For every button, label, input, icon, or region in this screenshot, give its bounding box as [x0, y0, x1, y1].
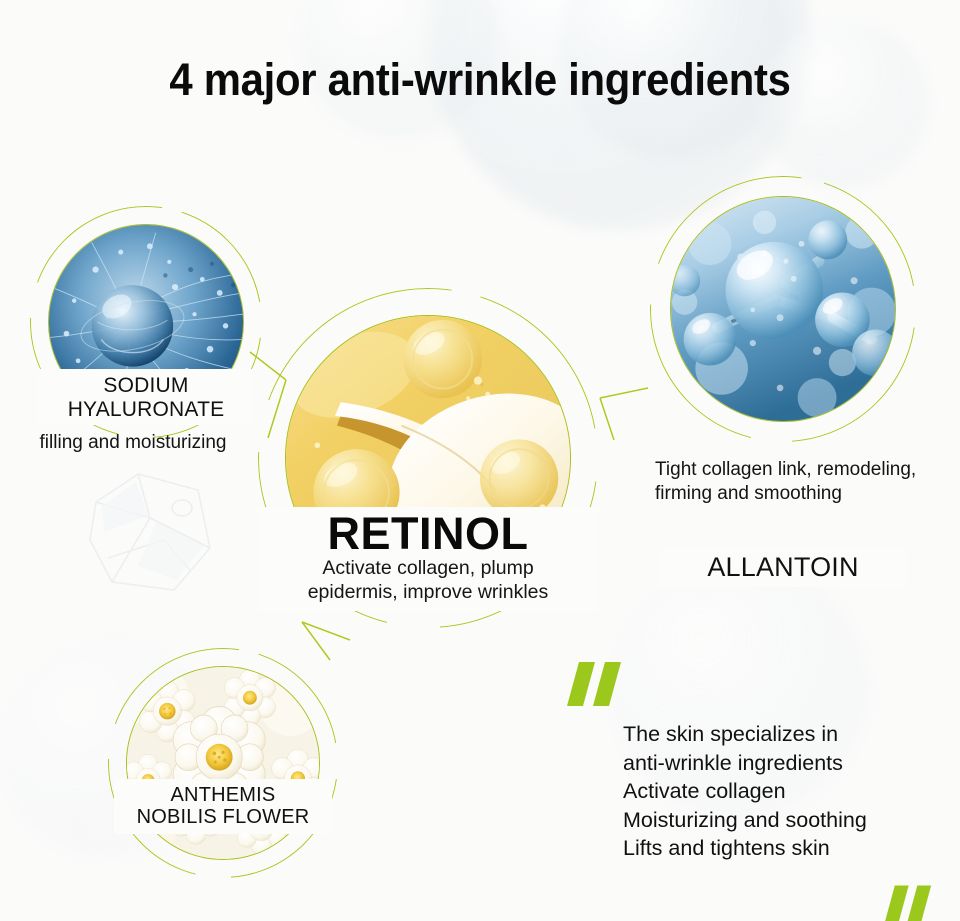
anthemis-nobilis-flower-title: ANTHEMIS NOBILIS FLOWER	[114, 784, 332, 829]
ingredient-node-sodium-hyaluronate[interactable]: SODIUM HYALURONATE	[30, 206, 262, 438]
allantoin-label-band: ALLANTOIN	[660, 548, 906, 587]
retinol-description: Activate collagen, plump epidermis, impr…	[258, 557, 598, 605]
connector-retinol-allantoin	[600, 388, 648, 398]
allantoin-title: ALLANTOIN	[660, 552, 906, 582]
ingredient-node-retinol[interactable]: RETINOL Activate collagen, plump epiderm…	[258, 288, 598, 628]
sodium-hyaluronate-description: filling and moisturizing	[8, 432, 258, 454]
sodium-hyaluronate-label-band: SODIUM HYALURONATE	[38, 369, 254, 425]
retinol-title: RETINOL	[258, 511, 598, 556]
allantoin-image	[670, 196, 896, 422]
quote-text: The skin specializes in anti-wrinkle ing…	[623, 720, 955, 863]
ice-cube-icon	[78, 462, 228, 617]
anthemis-nobilis-flower-label-band: ANTHEMIS NOBILIS FLOWER	[114, 779, 332, 834]
allantoin-description: Tight collagen link, remodeling, firming…	[655, 458, 960, 507]
ingredient-node-allantoin[interactable]: ALLANTOIN	[650, 176, 916, 442]
quote-open-icon	[565, 658, 629, 710]
quote-block: The skin specializes in anti-wrinkle ing…	[565, 658, 955, 863]
retinol-label-band: RETINOL Activate collagen, plump epiderm…	[258, 507, 598, 611]
ingredient-node-anthemis-nobilis-flower[interactable]: ANTHEMIS NOBILIS FLOWER	[108, 648, 338, 878]
connector-retinol-allantoin-b	[600, 398, 614, 440]
sodium-hyaluronate-title: SODIUM HYALURONATE	[38, 374, 254, 421]
quote-close-icon	[878, 882, 948, 921]
infographic-canvas: 4 major anti-wrinkle ingredients	[0, 0, 960, 921]
page-title: 4 major anti-wrinkle ingredients	[34, 54, 927, 106]
